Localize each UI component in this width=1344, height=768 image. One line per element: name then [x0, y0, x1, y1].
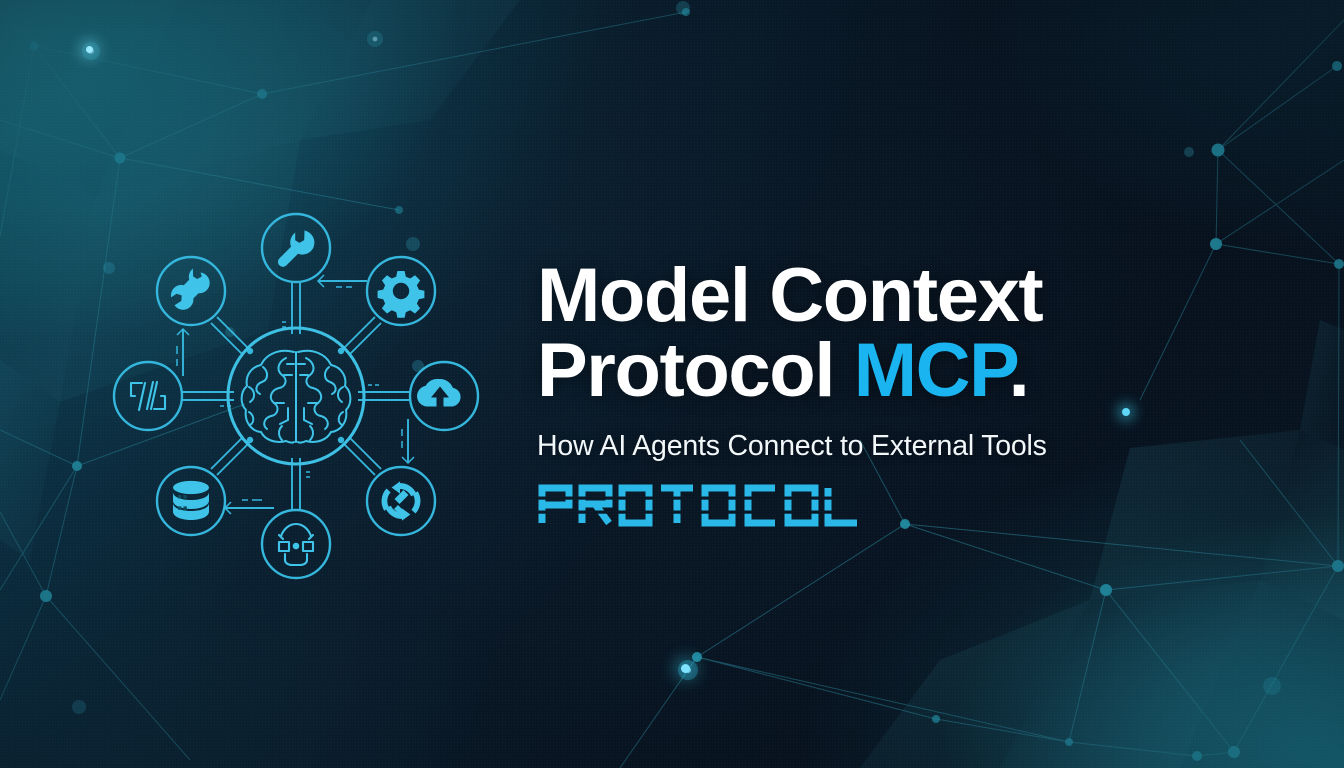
page-subtitle: How AI Agents Connect to External Tools [537, 430, 1227, 463]
connector-right [358, 385, 410, 400]
diagram-node-database-storage[interactable] [157, 467, 225, 535]
diagram-center-hub[interactable] [228, 328, 364, 464]
connector-arrow-top-right [318, 275, 367, 287]
title-line-2-main: Protocol [537, 328, 854, 413]
diagram-node-cloud-upload[interactable] [410, 362, 478, 430]
page-title: Model Context Protocol MCP. [537, 258, 1227, 408]
connector-arrow-bottom-left [225, 500, 274, 514]
title-line-2-punct: . [1009, 328, 1029, 413]
code-brackets-icon [131, 382, 165, 410]
diagram-node-code-brackets[interactable] [114, 362, 182, 430]
diagram-node-sync-refresh[interactable] [367, 467, 435, 535]
connector-arrow-right-down [402, 419, 414, 463]
sync-icon [382, 481, 421, 520]
title-line-2-accent: MCP [854, 328, 1009, 413]
protocol-logo-mark [537, 483, 867, 527]
cloud-upload-icon [417, 379, 460, 407]
wrench-icon [278, 231, 314, 267]
database-icon [173, 481, 209, 520]
brain-icon [242, 351, 351, 443]
robot-face-icon [279, 524, 313, 565]
connector-bottom [292, 458, 310, 510]
diagram-node-ai-agent-robot[interactable] [262, 510, 330, 578]
gear-icon [378, 271, 425, 318]
connector-top [282, 282, 300, 334]
hero-banner: .ring { fill: none; stroke: #35b6dd; str… [0, 0, 1344, 768]
title-line-1: Model Context [537, 253, 1042, 338]
diagram-node-settings-gear[interactable] [367, 257, 435, 325]
connector-arrow-left-up [177, 329, 189, 376]
wrench-alt-icon [171, 269, 210, 310]
hero-copy: Model Context Protocol MCP. How AI Agent… [537, 258, 1227, 527]
diagram-node-tools-wrench-left[interactable] [157, 257, 225, 325]
brand-logo [537, 483, 1227, 527]
diagram-node-tools-wrench-top[interactable] [262, 214, 330, 282]
mcp-hub-diagram: .ring { fill: none; stroke: #35b6dd; str… [86, 186, 506, 606]
connector-left [182, 392, 234, 406]
